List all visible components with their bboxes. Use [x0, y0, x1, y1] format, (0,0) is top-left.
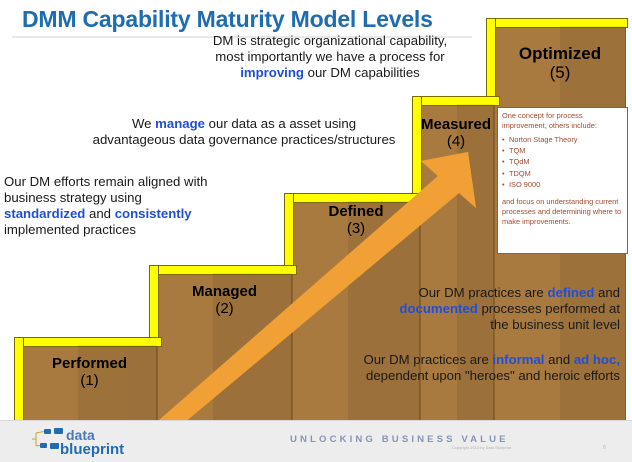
desc3-and: and — [85, 206, 114, 221]
desc3-line2: business strategy using — [4, 190, 142, 205]
step-tread-performed — [14, 337, 162, 347]
step-label-measured-level: (4) — [406, 134, 506, 151]
slide-canvas: DMM Capability Maturity Model Levels Opt… — [0, 0, 632, 462]
desc3-line1: Our DM efforts remain aligned with — [4, 174, 208, 189]
desc3-emphasis-2: consistently — [115, 206, 192, 221]
callout-bullet-list: Norton Stage Theory TQM TQdM TDQM ISO 90… — [502, 135, 623, 190]
step-label-defined: Defined (3) — [292, 204, 420, 238]
step-label-performed-level: (1) — [22, 373, 157, 390]
desc2-line3: the business unit level — [490, 317, 620, 332]
list-item: ISO 9000 — [502, 180, 623, 190]
desc3-emphasis-1: standardized — [4, 206, 85, 221]
desc4-pre: We — [132, 116, 155, 131]
step-label-measured-name: Measured — [421, 116, 491, 133]
step-tread-managed — [149, 265, 297, 275]
desc1-emphasis-2: ad hoc, — [574, 352, 620, 367]
desc2-post: processes performed at — [478, 301, 620, 316]
desc4-emphasis: manage — [155, 116, 205, 131]
step-tread-defined — [284, 193, 425, 203]
footer-copyright: Copyright 2013 by Data Blueprint — [452, 446, 511, 450]
description-level-5: DM is strategic organizational capabilit… — [170, 33, 490, 81]
step-tread-optimized — [486, 18, 628, 28]
list-item: TQdM — [502, 157, 623, 167]
desc3-line4: implemented practices — [4, 222, 136, 237]
step-label-performed-name: Performed — [52, 355, 127, 372]
step-label-optimized: Optimized (5) — [494, 44, 626, 82]
desc1-pre: Our DM practices are — [363, 352, 492, 367]
desc5-line2: most importantly we have a process for — [215, 49, 444, 64]
logo-text-blueprint: blueprint — [60, 441, 124, 457]
desc1-line2: dependent upon "heroes" and heroic effor… — [366, 368, 620, 383]
desc1-mid: and — [544, 352, 573, 367]
step-label-optimized-level: (5) — [494, 63, 626, 82]
description-level-1: Our DM practices are informal and ad hoc… — [295, 352, 620, 384]
desc5-line1: DM is strategic organizational capabilit… — [213, 33, 447, 48]
desc2-mid: and — [594, 285, 620, 300]
desc4-mid: our data as a asset using — [205, 116, 356, 131]
description-level-3: Our DM efforts remain aligned with busin… — [4, 174, 254, 238]
step-label-measured: Measured (4) — [406, 117, 506, 151]
desc1-emphasis-1: informal — [492, 352, 544, 367]
step-label-optimized-name: Optimized — [519, 44, 601, 63]
step-label-managed: Managed (2) — [157, 284, 292, 318]
desc5-line3: our DM capabilities — [304, 65, 420, 80]
data-blueprint-logo: data blueprint — [30, 427, 158, 457]
desc5-emphasis: improving — [240, 65, 304, 80]
step-label-defined-level: (3) — [292, 221, 420, 238]
footer-tagline: UNLOCKING BUSINESS VALUE — [290, 434, 509, 445]
callout-header: One concept for process improvement, oth… — [502, 111, 623, 131]
desc2-emphasis-2: documented — [399, 301, 477, 316]
step-label-defined-name: Defined — [328, 203, 383, 220]
desc2-emphasis-1: defined — [547, 285, 594, 300]
step-tread-measured — [412, 96, 500, 106]
callout-footer: and focus on understanding current proce… — [502, 197, 623, 227]
list-item: Norton Stage Theory — [502, 135, 623, 145]
desc2-pre: Our DM practices are — [418, 285, 547, 300]
desc4-line2: advantageous data governance practices/s… — [93, 132, 396, 147]
step-label-managed-level: (2) — [157, 301, 292, 318]
page-number: 6 — [603, 445, 606, 451]
step-label-managed-name: Managed — [192, 283, 257, 300]
step-label-performed: Performed (1) — [22, 356, 157, 390]
page-title: DMM Capability Maturity Model Levels — [22, 6, 433, 33]
description-level-2: Our DM practices are defined and documen… — [330, 285, 620, 333]
list-item: TQM — [502, 146, 623, 156]
callout-box: One concept for process improvement, oth… — [497, 107, 628, 254]
description-level-4: We manage our data as a asset using adva… — [88, 116, 400, 148]
list-item: TDQM — [502, 169, 623, 179]
